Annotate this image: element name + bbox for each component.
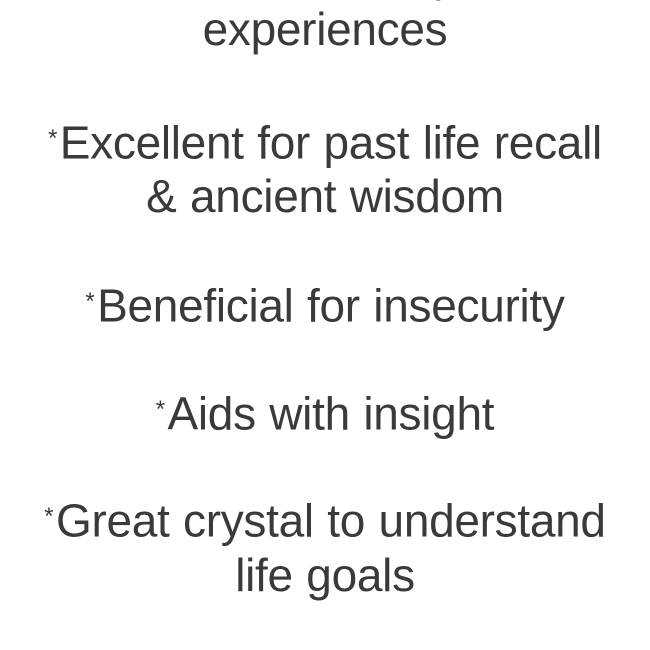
bullet-item: *Aids with insight xyxy=(0,383,650,440)
bullet-line: *Great crystal to understand xyxy=(0,490,650,547)
bullet-line: *Beneficial for insecurity xyxy=(0,275,650,332)
bullet-line-text: Excellent for past life recall xyxy=(60,116,602,168)
bullet-item: *Great crystal to understand life goals xyxy=(0,490,650,601)
spacer xyxy=(0,56,650,112)
bullet-line: *Aids with insight xyxy=(0,383,650,440)
bullet-item: *Beneficial for insecurity xyxy=(0,275,650,332)
bullet-item: emotions from past experiences xyxy=(0,0,650,56)
bullet-line: life goals xyxy=(0,548,650,602)
document-page: emotions from past experiences *Excellen… xyxy=(0,0,650,650)
bullet-list: emotions from past experiences *Excellen… xyxy=(0,0,650,602)
bullet-item: *Excellent for past life recall & ancien… xyxy=(0,112,650,223)
spacer xyxy=(0,440,650,490)
asterisk-icon: * xyxy=(85,275,94,329)
bullet-line-text: Aids with insight xyxy=(167,387,494,439)
asterisk-icon: * xyxy=(156,383,165,437)
bullet-line: experiences xyxy=(0,2,650,56)
asterisk-icon: * xyxy=(44,490,53,544)
spacer xyxy=(0,223,650,275)
asterisk-icon: * xyxy=(48,112,57,166)
bullet-line-text: Great crystal to understand xyxy=(56,495,606,547)
spacer xyxy=(0,333,650,383)
bullet-line: & ancient wisdom xyxy=(0,169,650,223)
bullet-line: *Excellent for past life recall xyxy=(0,112,650,169)
bullet-line-text: Beneficial for insecurity xyxy=(97,280,564,332)
